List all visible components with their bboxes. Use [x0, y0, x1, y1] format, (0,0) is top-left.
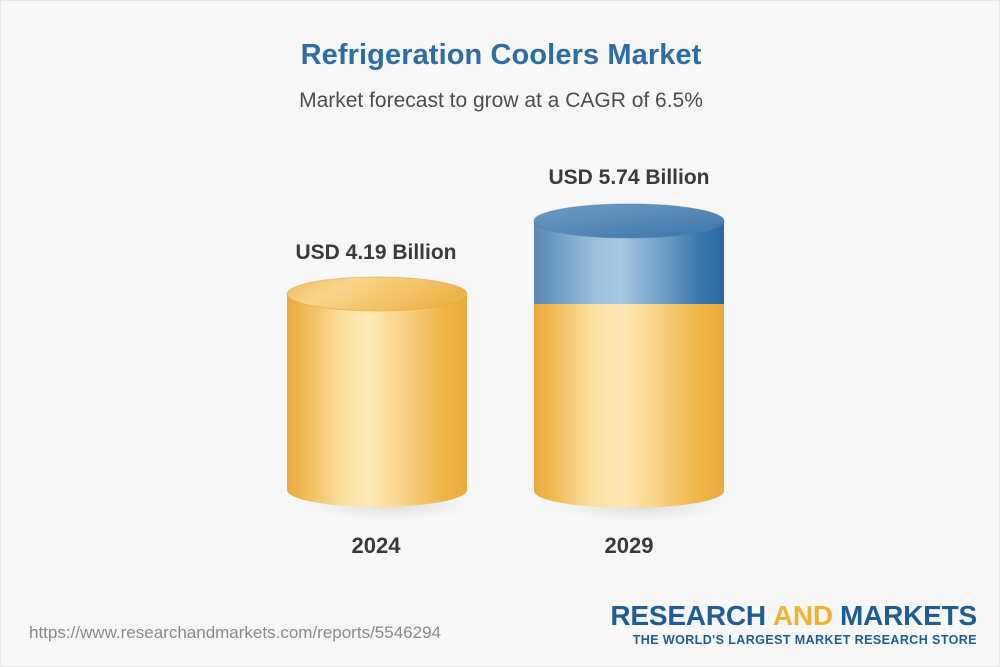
category-label-2024: 2024: [246, 533, 506, 559]
chart-canvas: Refrigeration Coolers Market Market fore…: [0, 0, 1000, 667]
plot-area: USD 4.19 Billion USD 5.74 Billion 2024 2…: [1, 1, 1000, 667]
logo-word-research: RESEARCH: [610, 600, 766, 631]
logo-tagline: THE WORLD'S LARGEST MARKET RESEARCH STOR…: [610, 633, 977, 647]
report-url[interactable]: https://www.researchandmarkets.com/repor…: [29, 623, 441, 643]
value-label-2024: USD 4.19 Billion: [246, 241, 506, 265]
research-and-markets-logo[interactable]: RESEARCHANDMARKETS THE WORLD'S LARGEST M…: [610, 601, 977, 647]
logo-word-and: AND: [773, 600, 833, 631]
logo-word-markets: MARKETS: [840, 600, 977, 631]
bar-cylinder-2024: [287, 277, 467, 523]
bar-cylinder-2029: [534, 204, 724, 524]
logo-wordmark: RESEARCHANDMARKETS: [610, 601, 977, 630]
category-label-2029: 2029: [499, 533, 759, 559]
value-label-2029: USD 5.74 Billion: [499, 166, 759, 190]
